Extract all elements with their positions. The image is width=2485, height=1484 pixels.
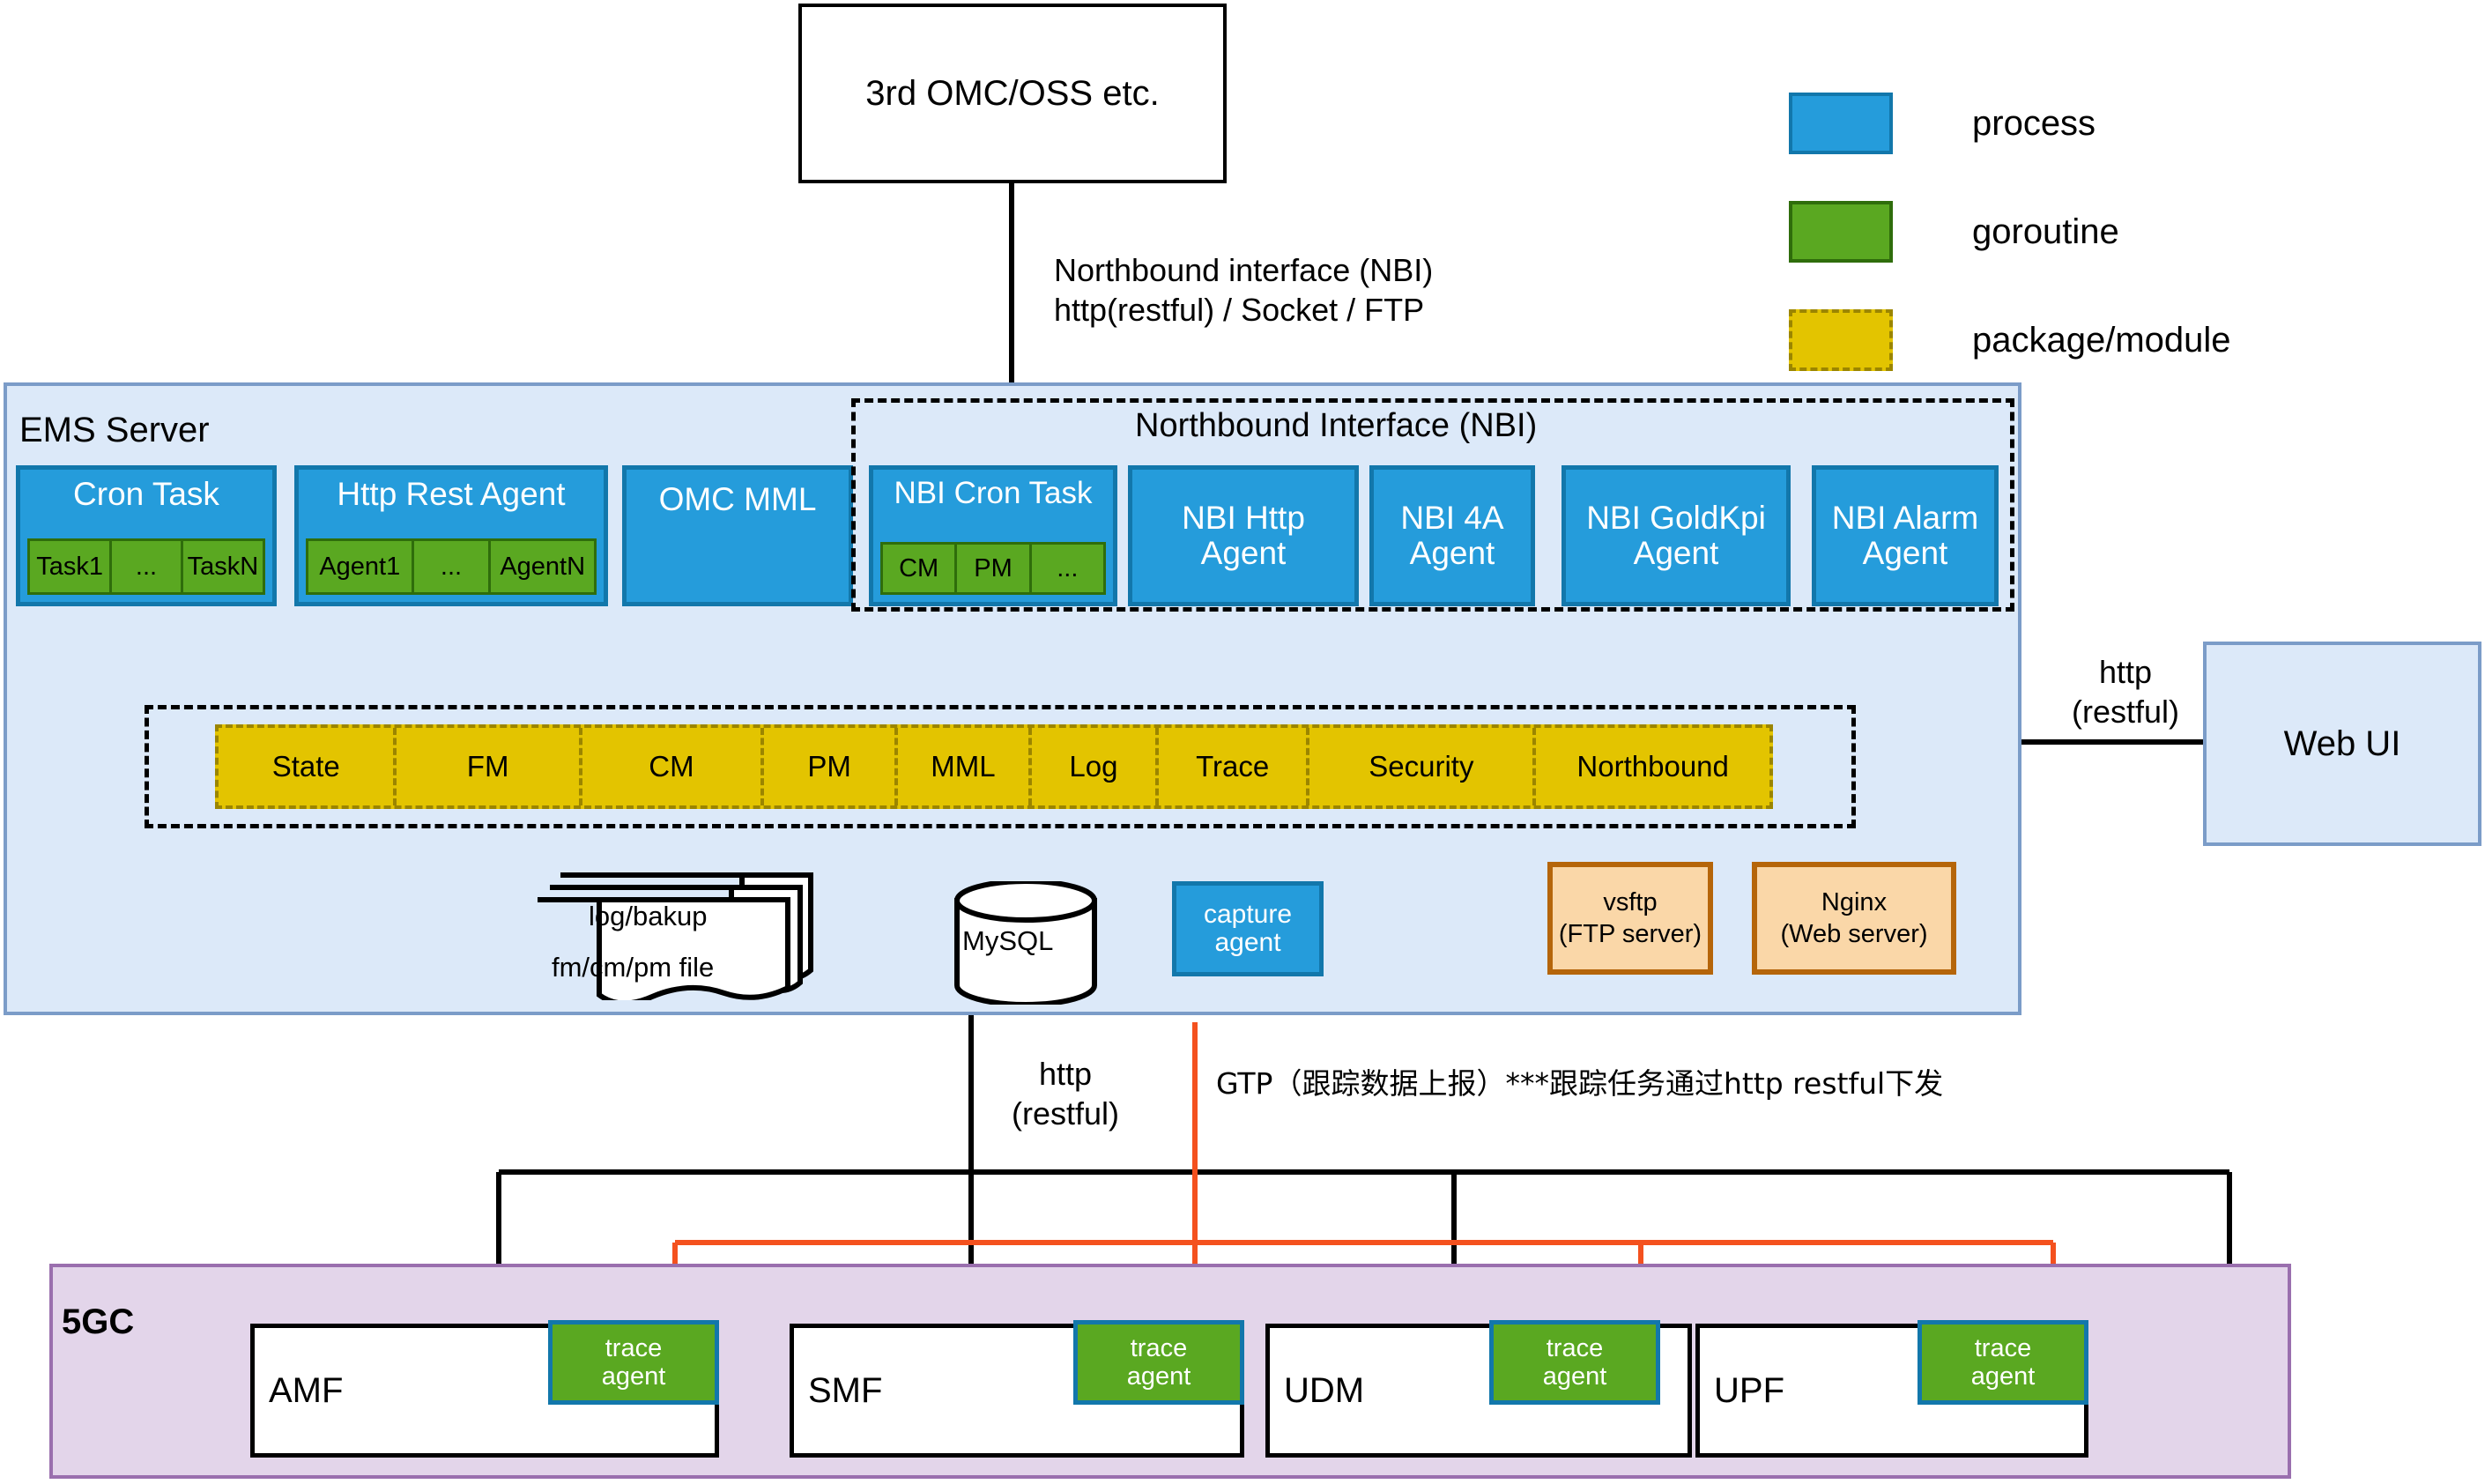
trace-agent-upf[interactable]: trace agent: [1918, 1320, 2088, 1405]
goroutine-taskn[interactable]: TaskN: [183, 541, 263, 592]
south-http-caption: http (restful): [1012, 1054, 1119, 1133]
legend-swatch-module: [1789, 309, 1893, 371]
process-nbi-cron-task-label: NBI Cron Task: [873, 477, 1113, 510]
vsftp-line1: vsftp: [1603, 887, 1657, 918]
trace-agent-amf-label: trace agent: [602, 1334, 666, 1391]
file-stack-label-line2: fm/cm/pm file: [552, 953, 714, 981]
process-nbi-4a-agent-label: NBI 4A Agent: [1400, 501, 1503, 571]
goroutine-agent-ellipsis[interactable]: ...: [414, 541, 492, 592]
module-security[interactable]: Security: [1309, 728, 1536, 805]
trace-agent-udm-label: trace agent: [1543, 1334, 1607, 1391]
module-state[interactable]: State: [219, 728, 397, 805]
trace-agent-upf-label: trace agent: [1971, 1334, 2036, 1391]
goroutine-task1[interactable]: Task1: [30, 541, 112, 592]
nf-box-udm-label: UDM: [1284, 1371, 1364, 1411]
legend-row-process: process: [1789, 93, 2231, 154]
process-omc-mml-label: OMC MML: [659, 482, 817, 517]
process-omc-mml[interactable]: OMC MML: [622, 465, 853, 606]
goroutine-nbi-pm[interactable]: PM: [957, 545, 1031, 592]
nginx-line1: Nginx: [1821, 887, 1887, 918]
process-http-rest-agent-label: Http Rest Agent: [299, 477, 604, 512]
legend-row-goroutine: goroutine: [1789, 201, 2231, 263]
module-cm[interactable]: CM: [582, 728, 764, 805]
webui-link-line1: http: [2048, 652, 2203, 692]
legend-row-module: package/module: [1789, 309, 2231, 371]
nbi-link-line2: http(restful) / Socket / FTP: [1054, 290, 1433, 330]
process-nbi-4a-agent[interactable]: NBI 4A Agent: [1369, 465, 1535, 606]
module-mml[interactable]: MML: [898, 728, 1032, 805]
nbi-container-title: Northbound Interface (NBI): [1135, 407, 1537, 445]
trace-agent-smf[interactable]: trace agent: [1073, 1320, 1244, 1405]
process-nbi-goldkpi-agent[interactable]: NBI GoldKpi Agent: [1561, 465, 1791, 606]
webui-link-line2: (restful): [2048, 692, 2203, 731]
process-nbi-goldkpi-agent-label: NBI GoldKpi Agent: [1586, 501, 1766, 571]
process-nbi-http-agent-label: NBI Http Agent: [1182, 501, 1305, 571]
module-northbound[interactable]: Northbound: [1536, 728, 1769, 805]
webui-link-caption: http (restful): [2048, 652, 2203, 731]
nginx-line2: (Web server): [1780, 918, 1927, 950]
goroutine-nbi-ellipsis[interactable]: ...: [1032, 545, 1103, 592]
goroutine-agent1[interactable]: Agent1: [308, 541, 414, 592]
south-http-line1: http: [1012, 1054, 1119, 1094]
legend-swatch-goroutine: [1789, 201, 1893, 263]
process-capture-agent-label: capture agent: [1204, 901, 1292, 958]
goroutine-group-nbi-cron-task: CM PM ...: [880, 542, 1106, 595]
process-nbi-cron-task[interactable]: NBI Cron Task CM PM ...: [869, 465, 1117, 606]
process-cron-task[interactable]: Cron Task Task1 ... TaskN: [16, 465, 277, 606]
goroutine-group-cron-task: Task1 ... TaskN: [27, 538, 265, 595]
process-nbi-alarm-agent-label: NBI Alarm Agent: [1832, 501, 1979, 571]
module-bar: State FM CM PM MML Log Trace Security No…: [215, 724, 1773, 809]
process-nbi-alarm-agent[interactable]: NBI Alarm Agent: [1812, 465, 1999, 606]
nf-box-amf-label: AMF: [269, 1371, 343, 1411]
gtp-note: GTP（跟踪数据上报）***跟踪任务通过http restful下发: [1216, 1066, 1943, 1102]
process-cron-task-label: Cron Task: [20, 477, 272, 512]
legend-label-module: package/module: [1972, 321, 2231, 360]
module-trace[interactable]: Trace: [1159, 728, 1309, 805]
legend-label-goroutine: goroutine: [1972, 212, 2119, 252]
nbi-link-caption: Northbound interface (NBI) http(restful)…: [1054, 250, 1433, 330]
process-nbi-http-agent[interactable]: NBI Http Agent: [1128, 465, 1359, 606]
legend-swatch-process: [1789, 93, 1893, 154]
web-ui-label: Web UI: [2284, 724, 2401, 764]
nf-box-smf-label: SMF: [808, 1371, 882, 1411]
nf-box-upf-label: UPF: [1714, 1371, 1784, 1411]
nginx-server-box: Nginx (Web server): [1752, 862, 1956, 975]
process-http-rest-agent[interactable]: Http Rest Agent Agent1 ... AgentN: [294, 465, 608, 606]
mysql-database-label: MySQL: [962, 925, 1053, 957]
vsftp-line2: (FTP server): [1559, 918, 1702, 950]
nbi-link-line1: Northbound interface (NBI): [1054, 250, 1433, 290]
trace-agent-amf[interactable]: trace agent: [548, 1320, 719, 1405]
oss-box: 3rd OMC/OSS etc.: [798, 4, 1227, 183]
vsftp-server-box: vsftp (FTP server): [1547, 862, 1713, 975]
trace-agent-udm[interactable]: trace agent: [1489, 1320, 1660, 1405]
module-log[interactable]: Log: [1032, 728, 1159, 805]
legend-label-process: process: [1972, 104, 2096, 144]
goroutine-group-http-rest-agent: Agent1 ... AgentN: [306, 538, 597, 595]
legend: process goroutine package/module: [1789, 93, 2231, 371]
gc5-title: 5GC: [62, 1302, 134, 1342]
goroutine-agentn[interactable]: AgentN: [491, 541, 594, 592]
file-stack-label-line1: log/bakup: [589, 902, 707, 930]
module-fm[interactable]: FM: [397, 728, 582, 805]
trace-agent-smf-label: trace agent: [1127, 1334, 1191, 1391]
diagram-canvas: 3rd OMC/OSS etc. Northbound interface (N…: [0, 0, 2485, 1484]
process-capture-agent[interactable]: capture agent: [1172, 881, 1324, 976]
goroutine-task-ellipsis[interactable]: ...: [112, 541, 182, 592]
web-ui-box[interactable]: Web UI: [2203, 642, 2481, 846]
module-pm[interactable]: PM: [764, 728, 898, 805]
oss-box-label: 3rd OMC/OSS etc.: [865, 71, 1159, 115]
south-http-line2: (restful): [1012, 1094, 1119, 1133]
ems-server-title: EMS Server: [19, 411, 210, 450]
goroutine-nbi-cm[interactable]: CM: [883, 545, 957, 592]
